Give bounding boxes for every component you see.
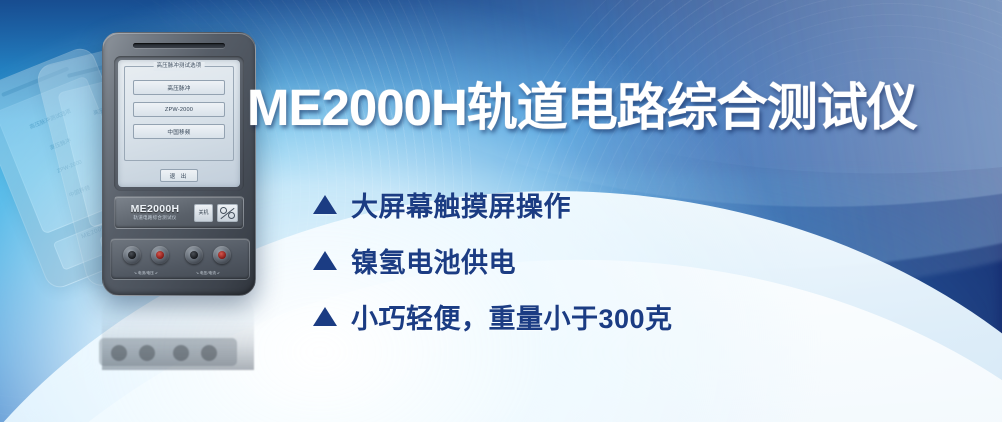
- jack-label-left: ↘ 电流/电压 ↙: [124, 271, 168, 276]
- jack-black-2[interactable]: [185, 246, 203, 264]
- device-screen: 高压脉冲测试选项 高压脉冲 ZPW-2000 中国移频 退 出: [118, 60, 240, 187]
- screen-button-high-voltage-pulse[interactable]: 高压脉冲: [133, 80, 225, 95]
- reflection-jack-1: [111, 345, 127, 361]
- jack-red-2-core: [218, 251, 226, 259]
- jack-red-2[interactable]: [213, 246, 231, 264]
- screen-button-zpw-2000[interactable]: ZPW-2000: [133, 102, 225, 117]
- device-brand-name: ME2000H: [131, 204, 180, 215]
- feature-item-1: 大屏幕触摸屏操作: [313, 176, 673, 232]
- device-photo: 高压脉冲测试选项 高压脉冲 ZPW-2000 中国移频 ME2000H 高压脉冲…: [92, 18, 282, 358]
- screen-group-title: 高压脉冲测试选项: [154, 62, 205, 71]
- triangle-bullet-icon: [313, 251, 337, 270]
- device-jack-panel: ↘ 电流/电压 ↙ ↘ 电压/电流 ↙: [110, 238, 250, 280]
- feature-text-2: 镍氢电池供电: [351, 241, 516, 280]
- feature-text-3: 小巧轻便，重量小于300克: [351, 297, 673, 336]
- jack-label-right: ↘ 电压/电流 ↙: [186, 271, 230, 276]
- reflection-jack-4: [201, 345, 217, 361]
- triangle-bullet-icon: [313, 307, 337, 326]
- product-banner: 高压脉冲测试选项 高压脉冲 ZPW-2000 中国移频 ME2000H 高压脉冲…: [0, 0, 1002, 422]
- device-screen-bezel: 高压脉冲测试选项 高压脉冲 ZPW-2000 中国移频 退 出: [114, 56, 244, 191]
- jack-black-2-core: [190, 251, 198, 259]
- device-brand-subtitle: 轨道电路综合测试仪: [133, 215, 176, 221]
- device-reflection: [102, 296, 254, 370]
- reflection-jack-3: [173, 345, 189, 361]
- device-body: 高压脉冲测试选项 高压脉冲 ZPW-2000 中国移频 退 出 ME2000H …: [102, 32, 256, 296]
- screen-button-china-frequency-shift[interactable]: 中国移频: [133, 124, 225, 139]
- jack-red-1[interactable]: [151, 246, 169, 264]
- device-brand-panel: ME2000H 轨道电路综合测试仪 关机: [114, 196, 244, 229]
- screen-option-group: 高压脉冲测试选项 高压脉冲 ZPW-2000 中国移频: [124, 66, 234, 161]
- gear-bottom-icon: [228, 212, 235, 219]
- speaker-slot-icon: [133, 43, 225, 48]
- settings-gear-icon[interactable]: [217, 204, 238, 222]
- feature-item-3: 小巧轻便，重量小于300克: [313, 288, 673, 344]
- reflection-jack-panel: [99, 338, 237, 366]
- brand-block: ME2000H 轨道电路综合测试仪: [120, 204, 190, 221]
- triangle-bullet-icon: [313, 195, 337, 214]
- reflection-jack-2: [139, 345, 155, 361]
- page-title: ME2000H轨道电路综合测试仪: [247, 82, 917, 133]
- feature-item-2: 镍氢电池供电: [313, 232, 673, 288]
- screen-button-list: 高压脉冲 ZPW-2000 中国移频: [133, 80, 225, 139]
- screen-exit-button[interactable]: 退 出: [160, 169, 198, 182]
- jack-black-1[interactable]: [123, 246, 141, 264]
- feature-list: 大屏幕触摸屏操作 镍氢电池供电 小巧轻便，重量小于300克: [313, 176, 673, 344]
- jack-black-1-core: [128, 251, 136, 259]
- power-off-button[interactable]: 关机: [194, 204, 213, 222]
- jack-red-1-core: [156, 251, 164, 259]
- feature-text-1: 大屏幕触摸屏操作: [351, 185, 571, 224]
